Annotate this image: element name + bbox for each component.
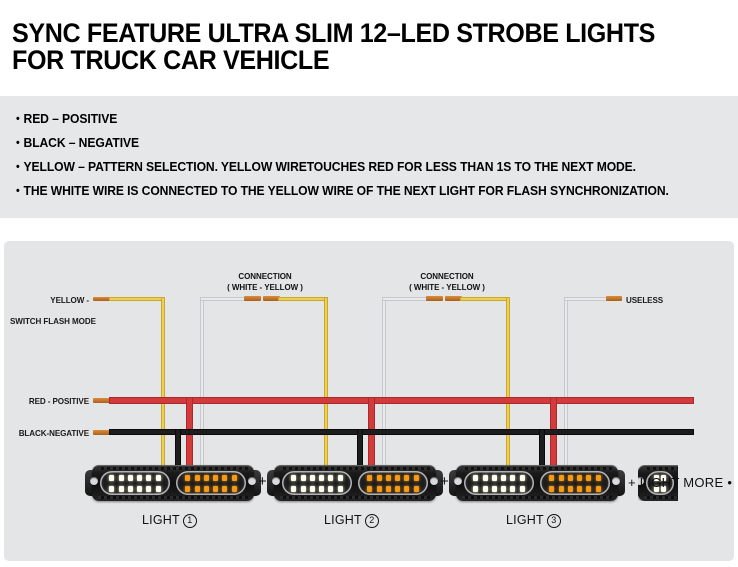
spec-item-red: •RED – POSITIVE xyxy=(16,113,117,126)
light-module-3[interactable] xyxy=(456,465,618,501)
wire-black-light3-drop xyxy=(539,429,545,469)
bullet-icon: • xyxy=(16,161,20,173)
mounting-hole-left xyxy=(90,477,98,485)
mounting-hole-left xyxy=(454,477,462,485)
label-red-positive: RED - POSITIVE xyxy=(8,396,89,406)
spec-item-yellow: •YELLOW – PATTERN SELECTION. YELLOW WIRE… xyxy=(16,161,636,174)
wire-yellow-connection2-horizontal xyxy=(460,297,510,301)
mounting-hole-left xyxy=(272,477,280,485)
light-caption-1: LIGHT1 xyxy=(142,513,197,528)
connection-label-1-line2: ( WHITE - YELLOW ) xyxy=(200,282,330,293)
bullet-icon: • xyxy=(16,137,20,149)
wire-white-useless-horizontal xyxy=(564,297,610,301)
lens-white-left xyxy=(282,471,352,495)
wire-yellow-light1-drop xyxy=(161,297,165,469)
page-title-line-1: SYNC FEATURE ULTRA SLIM 12–LED STROBE LI… xyxy=(12,20,678,47)
mounting-hole-right xyxy=(430,477,438,485)
light-caption-2-text: LIGHT xyxy=(324,513,362,527)
copper-splice-2-left xyxy=(426,296,443,301)
housing-vent-top xyxy=(280,467,430,470)
separator-plus-2: + xyxy=(440,473,449,490)
wire-yellow-light2-drop xyxy=(324,297,328,469)
connection-label-1: CONNECTION ( WHITE - YELLOW ) xyxy=(200,271,330,293)
label-black-negative: BLACK-NEGATIVE xyxy=(8,428,89,438)
bullet-icon: • xyxy=(16,185,20,197)
light-caption-3-text: LIGHT xyxy=(506,513,544,527)
mounting-hole-right xyxy=(612,477,620,485)
spec-item-white: •THE WHITE WIRE IS CONNECTED TO THE YELL… xyxy=(16,185,669,198)
wire-yellow-switch-horizontal xyxy=(109,297,165,301)
wire-yellow-connection1-horizontal xyxy=(278,297,328,301)
light-module-2[interactable] xyxy=(274,465,436,501)
spec-item-label: YELLOW – PATTERN SELECTION. YELLOW WIRET… xyxy=(24,160,636,174)
wire-black-light1-drop xyxy=(175,429,181,469)
spec-item-black: •BLACK – NEGATIVE xyxy=(16,137,139,150)
connection-label-2-line2: ( WHITE - YELLOW ) xyxy=(382,282,512,293)
spec-item-label: BLACK – NEGATIVE xyxy=(24,136,139,150)
separator-plus-1: + xyxy=(258,473,267,490)
wiring-diagram-panel: CONNECTION ( WHITE - YELLOW ) CONNECTION… xyxy=(4,241,734,561)
lens-amber-right xyxy=(176,471,246,495)
light-caption-2: LIGHT2 xyxy=(324,513,379,528)
page-title-line-2: FOR TRUCK CAR VEHICLE xyxy=(12,47,678,74)
wire-white-light2-riser xyxy=(382,297,386,469)
label-yellow-switch-line2: SWITCH FLASH MODE xyxy=(10,316,96,326)
wire-black-light2-drop xyxy=(357,429,363,469)
copper-splice-1-left xyxy=(244,296,261,301)
lens-white-left xyxy=(464,471,534,495)
light-more-label: + LIGHT MORE • • xyxy=(628,475,734,490)
copper-tip-useless xyxy=(606,296,622,301)
housing-vent-top xyxy=(98,467,248,470)
wire-black-bus xyxy=(109,429,694,435)
light-number-3: 3 xyxy=(547,514,561,528)
wire-white-light1-riser xyxy=(200,297,204,469)
wire-white-light3-riser xyxy=(564,297,568,469)
light-caption-1-text: LIGHT xyxy=(142,513,180,527)
housing-vent-top xyxy=(462,467,612,470)
housing-vent-top xyxy=(644,467,678,470)
label-yellow-switch-line1: YELLOW - xyxy=(31,295,89,305)
connection-label-2-line1: CONNECTION xyxy=(382,271,512,282)
light-number-1: 1 xyxy=(183,514,197,528)
lens-white-left xyxy=(100,471,170,495)
light-housing xyxy=(456,465,618,501)
lens-amber-right xyxy=(540,471,610,495)
label-useless: USELESS xyxy=(626,295,663,305)
light-housing xyxy=(92,465,254,501)
housing-vent-bottom xyxy=(644,496,678,499)
mounting-hole-right xyxy=(248,477,256,485)
light-housing xyxy=(274,465,436,501)
page-title: SYNC FEATURE ULTRA SLIM 12–LED STROBE LI… xyxy=(12,20,728,74)
wire-yellow-light3-drop xyxy=(506,297,510,469)
connection-label-2: CONNECTION ( WHITE - YELLOW ) xyxy=(382,271,512,293)
lens-amber-right xyxy=(358,471,428,495)
light-caption-3: LIGHT3 xyxy=(506,513,561,528)
housing-vent-bottom xyxy=(462,496,612,499)
wire-white-connection1-horizontal xyxy=(200,297,246,301)
housing-vent-bottom xyxy=(280,496,430,499)
connection-label-1-line1: CONNECTION xyxy=(200,271,330,282)
wire-white-connection2-horizontal xyxy=(382,297,428,301)
light-number-2: 2 xyxy=(365,514,379,528)
wire-red-bus xyxy=(109,397,694,404)
spec-item-label: THE WHITE WIRE IS CONNECTED TO THE YELLO… xyxy=(24,184,669,198)
spec-item-label: RED – POSITIVE xyxy=(24,112,118,126)
housing-vent-bottom xyxy=(98,496,248,499)
bullet-icon: • xyxy=(16,113,20,125)
light-module-1[interactable] xyxy=(92,465,254,501)
